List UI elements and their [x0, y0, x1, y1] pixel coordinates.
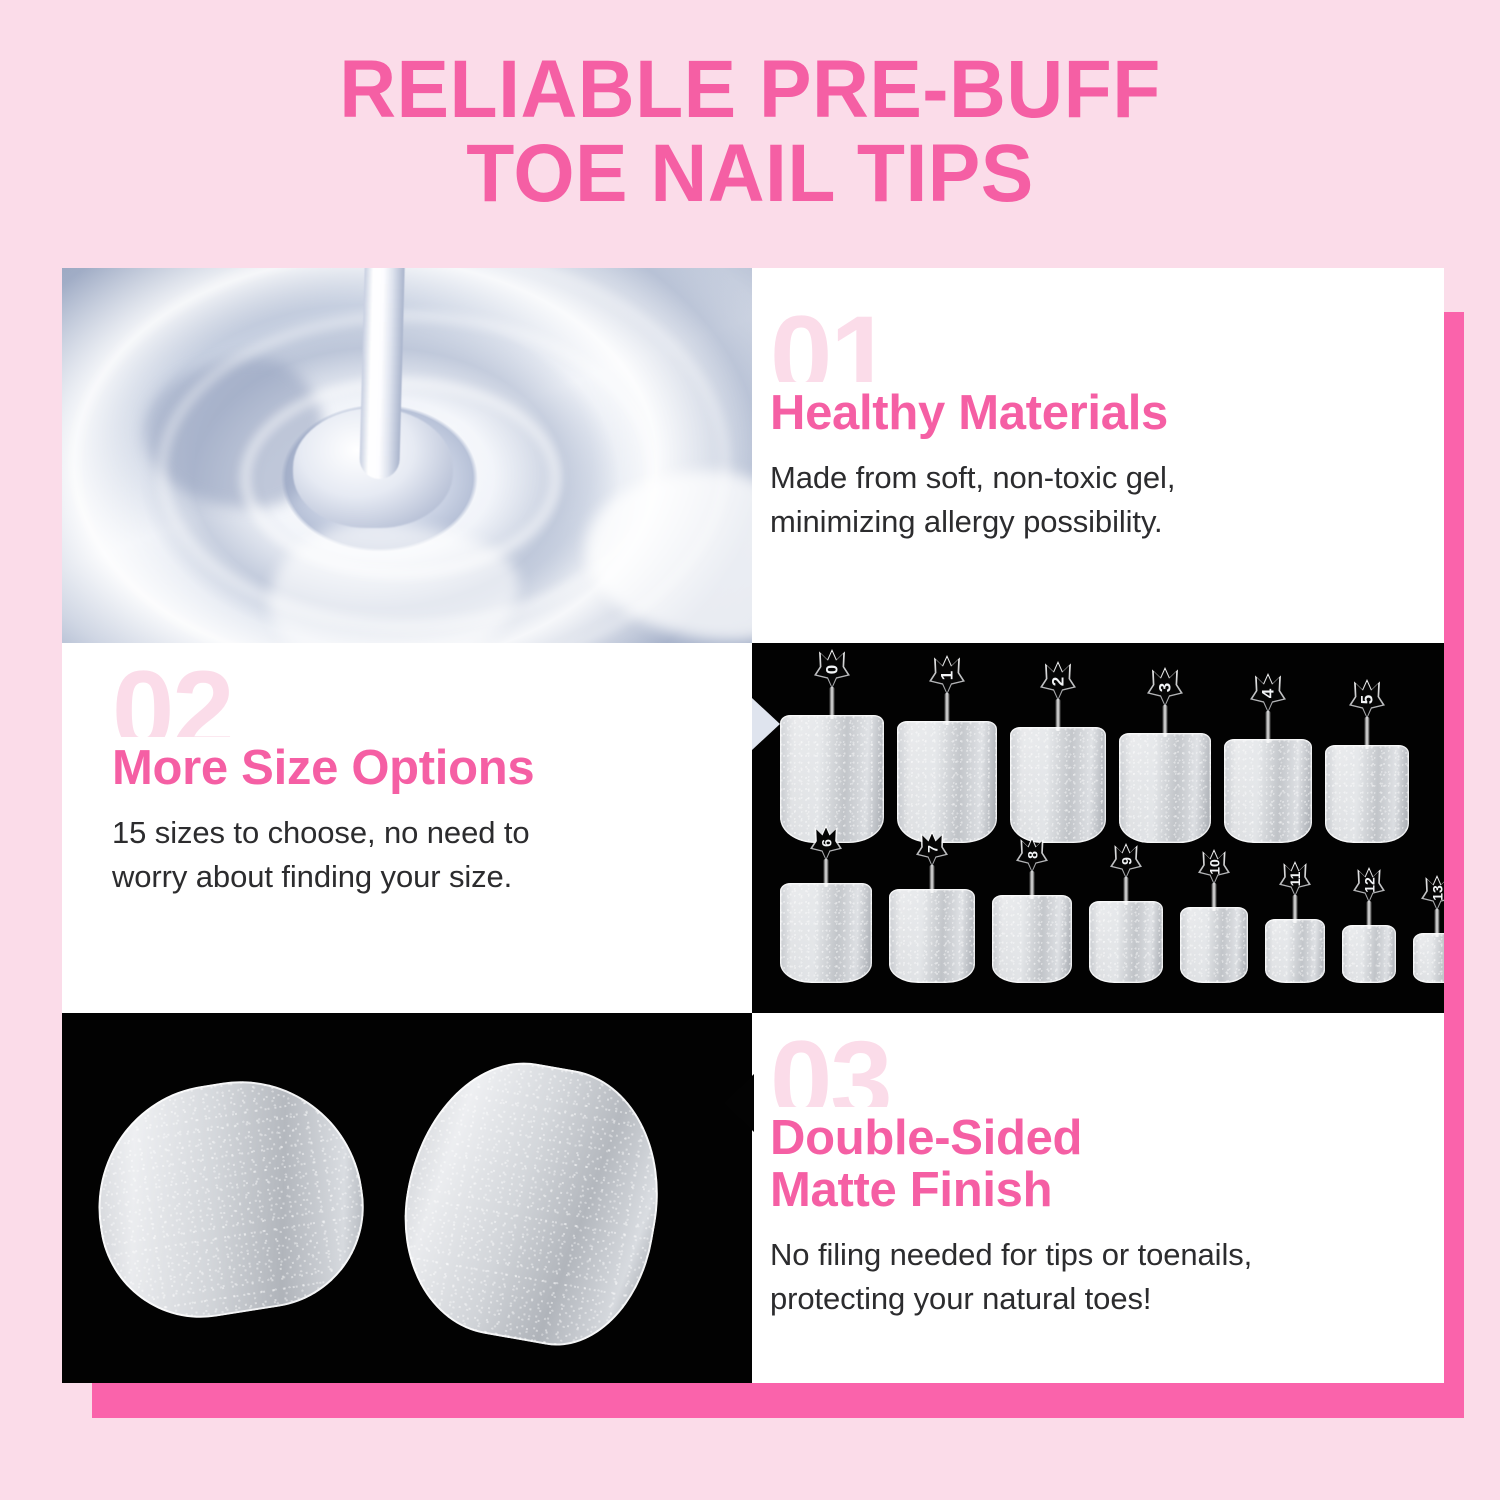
feature-3-description-line-2: protecting your natural toes! — [770, 1277, 1380, 1321]
nail-tip-body — [1265, 919, 1325, 983]
nail-tip-body — [780, 883, 872, 983]
feature-3-image-cell — [62, 1013, 752, 1383]
nail-tip-size-label: 7 — [925, 845, 939, 853]
nail-tip-stem — [1367, 901, 1372, 929]
feature-1-text-cell: 01 Healthy Materials Made from soft, non… — [752, 268, 1444, 643]
feature-1-description: Made from soft, non-toxic gel, minimizin… — [770, 456, 1370, 544]
feature-3-title: Double-Sided Matte Finish — [770, 1113, 1380, 1217]
nail-tip-flag-inner: 11 — [1282, 864, 1309, 895]
nail-tip-body — [992, 895, 1072, 983]
arrow-right-icon-row-1 — [752, 698, 780, 750]
nail-tip-size-label: 5 — [1359, 694, 1376, 703]
nail-tip-body — [780, 715, 884, 843]
nail-tip-stem — [1030, 871, 1035, 899]
nail-tip-flag-inner: 6 — [813, 828, 840, 859]
nail-tip-body — [1325, 745, 1409, 843]
nail-tip-stem — [824, 859, 829, 887]
nail-tip-stem — [1293, 895, 1298, 923]
nail-tip-flag-inner: 8 — [1019, 840, 1046, 871]
feature-3-text-cell: 03 Double-Sided Matte Finish No filing n… — [752, 1013, 1444, 1383]
nail-tip-size-0: 0 — [780, 649, 884, 843]
nail-tip-stem — [930, 865, 935, 893]
nail-tip-body — [897, 721, 997, 843]
feature-3-title-line-2: Matte Finish — [770, 1165, 1380, 1217]
feature-1-title: Healthy Materials — [770, 388, 1370, 440]
nail-tip-size-13: 13 — [1413, 875, 1444, 983]
nail-tip-size-chart-photo: 01234567891011121314 — [752, 643, 1444, 1013]
nail-tip-body — [1413, 933, 1444, 983]
nail-tip-size-label: 12 — [1362, 877, 1376, 893]
nail-tip-stem — [1365, 717, 1370, 749]
nail-tip-body — [1010, 727, 1106, 843]
nail-tip-body — [1342, 925, 1396, 983]
feature-2-image-cell: 01234567891011121314 — [752, 643, 1444, 1013]
nail-tip-size-6: 6 — [780, 825, 872, 983]
nail-tip-body — [889, 889, 975, 983]
arrow-left-icon-row-2 — [724, 1074, 754, 1132]
nail-tip-flag-inner: 10 — [1201, 852, 1228, 883]
nail-tip-size-10: 10 — [1180, 849, 1248, 983]
feature-3-title-line-1: Double-Sided — [770, 1113, 1380, 1165]
nail-tip-size-label: 10 — [1207, 859, 1221, 875]
feature-3-description: No filing needed for tips or toenails, p… — [770, 1233, 1380, 1321]
infographic-root: RELIABLE PRE-BUFF TOE NAIL TIPS 01 Healt — [0, 0, 1500, 1500]
nail-tip-size-2: 2 — [1010, 661, 1106, 843]
double-sided-nail-tip-photo — [62, 1013, 752, 1383]
nail-tip-stem — [1266, 711, 1271, 743]
page-title-line-1: RELIABLE PRE-BUFF — [30, 48, 1470, 132]
nail-tip-stem — [945, 693, 950, 725]
nail-tip-body — [1224, 739, 1312, 843]
feature-3-number: 03 — [770, 1037, 1380, 1107]
nail-tip-flag-inner: 12 — [1356, 870, 1383, 901]
nail-tip-size-label: 0 — [824, 664, 841, 673]
nail-tip-body — [1119, 733, 1211, 843]
nail-tip-size-label: 11 — [1288, 872, 1302, 887]
nail-tip-size-label: 1 — [939, 670, 956, 679]
nail-tip-stem — [830, 687, 835, 719]
nail-tip-size-3: 3 — [1119, 667, 1211, 843]
nail-tip-stem — [1212, 883, 1217, 911]
feature-2-description-line-2: worry about finding your size. — [112, 855, 712, 899]
page-title: RELIABLE PRE-BUFF TOE NAIL TIPS — [0, 48, 1500, 217]
page-title-line-2: TOE NAIL TIPS — [30, 132, 1470, 216]
nail-tip-size-4: 4 — [1224, 673, 1312, 843]
nail-tip-body — [1089, 901, 1163, 983]
feature-2-description-line-1: 15 sizes to choose, no need to — [112, 811, 712, 855]
panel-shadow-right — [1444, 312, 1464, 1418]
nail-tip-flag-inner: 4 — [1253, 676, 1284, 711]
nail-tip-size-8: 8 — [992, 837, 1072, 983]
feature-1-description-line-2: minimizing allergy possibility. — [770, 500, 1370, 544]
feature-2-number: 02 — [112, 667, 712, 737]
nail-tip-size-label: 6 — [819, 839, 833, 847]
nail-tip-size-label: 8 — [1025, 851, 1039, 859]
nail-tip-back-view — [385, 1045, 679, 1359]
nail-tip-flag-inner: 3 — [1150, 670, 1181, 705]
feature-1-description-line-1: Made from soft, non-toxic gel, — [770, 456, 1370, 500]
nail-tip-size-5: 5 — [1325, 679, 1409, 843]
feature-2-title: More Size Options — [112, 743, 712, 795]
feature-1-number: 01 — [770, 312, 1370, 382]
feature-panel: 01 Healthy Materials Made from soft, non… — [62, 268, 1444, 1383]
nail-tip-size-9: 9 — [1089, 843, 1163, 983]
nail-tip-flag-inner: 2 — [1043, 664, 1074, 699]
nail-tip-stem — [1124, 877, 1129, 905]
nail-tip-size-label: 13 — [1430, 885, 1444, 901]
nail-tip-size-label: 4 — [1260, 688, 1277, 697]
nail-tip-stem — [1163, 705, 1168, 737]
nail-tip-body — [1180, 907, 1248, 983]
nail-tip-size-7: 7 — [889, 831, 975, 983]
nail-tip-size-label: 2 — [1050, 676, 1067, 685]
feature-2-description: 15 sizes to choose, no need to worry abo… — [112, 811, 712, 899]
nail-tip-size-12: 12 — [1342, 867, 1396, 983]
nail-tip-size-1: 1 — [897, 655, 997, 843]
feature-1-image-cell — [62, 268, 752, 643]
panel-shadow-bottom — [92, 1383, 1464, 1418]
nail-tip-size-label: 3 — [1157, 682, 1174, 691]
nail-tip-flag-inner: 9 — [1113, 846, 1140, 877]
nail-tip-flag-inner: 5 — [1352, 682, 1383, 717]
nail-tip-stem — [1056, 699, 1061, 731]
nail-tip-size-label: 9 — [1119, 857, 1133, 865]
gel-pour-photo — [62, 268, 752, 643]
nail-tip-size-11: 11 — [1265, 861, 1325, 983]
nail-tip-front-view — [81, 1064, 379, 1333]
feature-3-description-line-1: No filing needed for tips or toenails, — [770, 1233, 1380, 1277]
gel-stream — [359, 268, 405, 478]
nail-tip-flag-inner: 1 — [932, 658, 963, 693]
nail-tip-flag-inner: 0 — [817, 652, 848, 687]
feature-2-text-cell: 02 More Size Options 15 sizes to choose,… — [62, 643, 752, 1013]
nail-tip-stem — [1435, 909, 1440, 937]
nail-tip-flag-inner: 7 — [919, 834, 946, 865]
